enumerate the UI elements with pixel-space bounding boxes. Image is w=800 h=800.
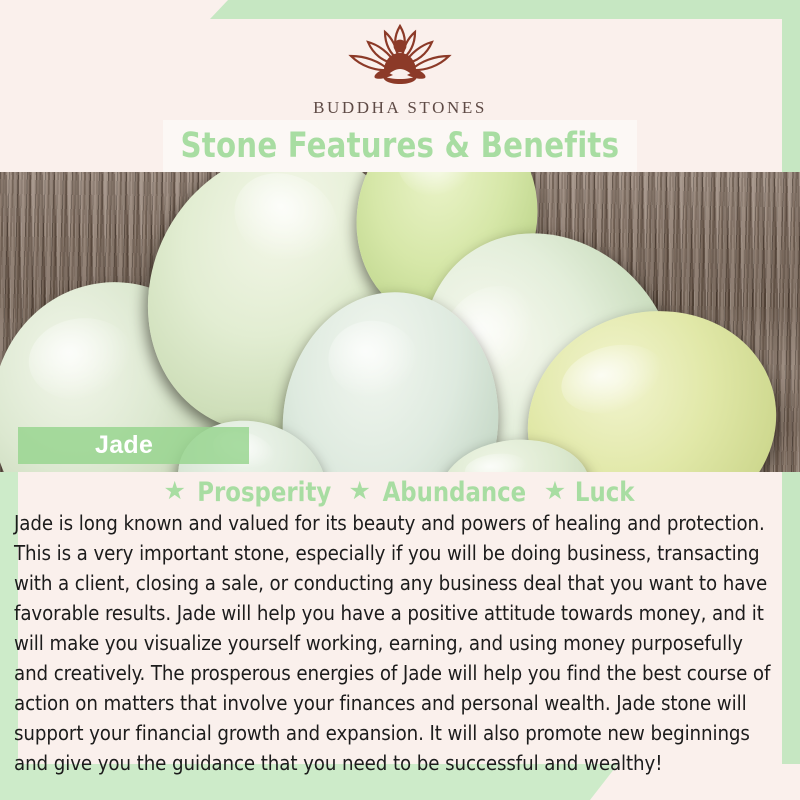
benefits-list: ★ Prosperity ★ Abundance ★ Luck (0, 477, 800, 508)
brand-name: BUDDHA STONES (313, 98, 487, 118)
page-title: Stone Features & Benefits (181, 126, 620, 166)
benefit-label: Prosperity (197, 477, 331, 508)
benefit-item-abundance: ★ Abundance (349, 477, 531, 508)
lotus-meditation-icon (325, 18, 475, 94)
stone-name-text: Jade (95, 431, 153, 460)
stone-name-label: Jade (18, 427, 249, 464)
star-icon: ★ (349, 479, 371, 504)
benefit-label: Abundance (383, 477, 527, 508)
stone-info-card: BUDDHA STONES Stone Features & Benefits … (0, 0, 800, 800)
benefit-item-luck: ★ Luck (544, 477, 637, 508)
benefit-item-prosperity: ★ Prosperity (164, 477, 336, 508)
stone-description: Jade is long known and valued for its be… (14, 508, 778, 778)
page-title-banner: Stone Features & Benefits (163, 120, 637, 172)
star-icon: ★ (544, 479, 566, 504)
star-icon: ★ (164, 479, 186, 504)
decoration-top-bar (210, 0, 800, 19)
benefit-label: Luck (575, 477, 635, 508)
